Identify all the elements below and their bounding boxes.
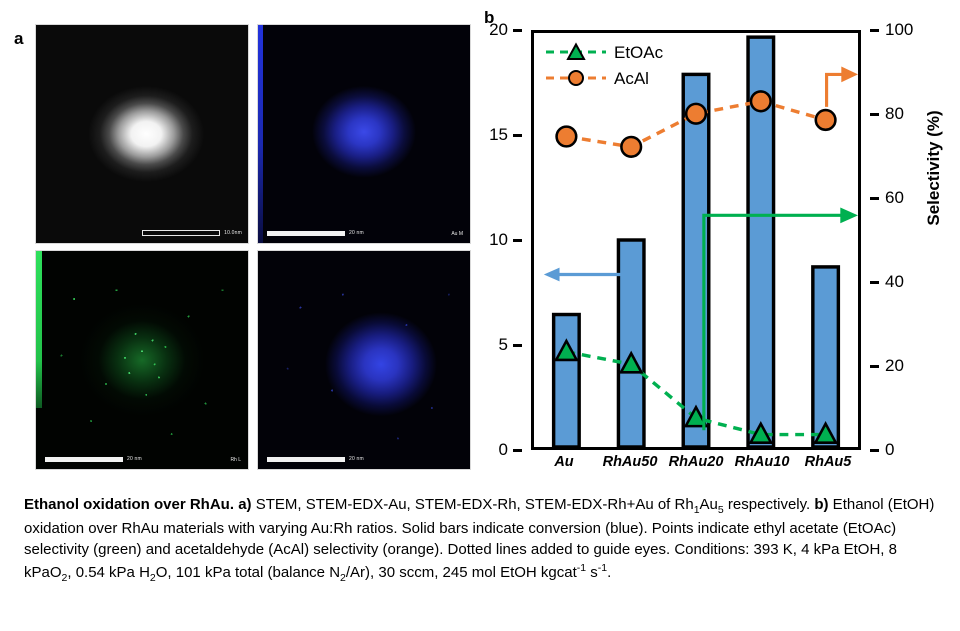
right-axis-arrow-green-head	[840, 207, 858, 223]
x-tick-label-RhAu5: RhAu5	[795, 454, 861, 470]
caption-a-tag: a)	[238, 496, 251, 513]
y-tick-right-20: 20	[870, 356, 904, 376]
panel-a-micrographs: a 10.0nm 20 nm Au M 20	[8, 8, 470, 478]
scalebar-bar	[267, 231, 345, 236]
caption-sup-s: -1	[598, 562, 607, 574]
caption-title: Ethanol oxidation over RhAu.	[24, 496, 234, 513]
scalebar-stem: 10.0nm	[142, 230, 242, 236]
y-tick-right-40: 40	[870, 272, 904, 292]
scalebar-label: 20 nm	[349, 456, 364, 462]
micrograph-edx-rh: 20 nm Rh L	[35, 250, 249, 470]
panel-b-chart: Conversion (%) Selectivity (%) 05101520 …	[478, 8, 952, 478]
x-axis-tick-labels: AuRhAu50RhAu20RhAu10RhAu5	[531, 454, 861, 470]
point-AcAl-RhAu5	[816, 110, 836, 130]
x-tick-label-RhAu50: RhAu50	[597, 454, 663, 470]
scalebar-bar	[267, 457, 345, 462]
point-AcAl-RhAu10	[751, 91, 771, 111]
legend-label-etoac: EtOAc	[614, 44, 663, 61]
micrograph-stem: 10.0nm	[35, 24, 249, 244]
bar-Au	[554, 315, 580, 447]
legend-label-acal: AcAl	[614, 70, 649, 87]
y-tick-left-0: 0	[499, 440, 522, 460]
caption-a-text2: Au	[700, 496, 718, 513]
edx-rh-intensity-stripe	[36, 251, 42, 408]
caption-b-text2: , 0.54 kPa H	[67, 564, 150, 581]
caption-b-text6: .	[607, 564, 611, 581]
caption-a-text3: respectively.	[724, 496, 815, 513]
legend-item-etoac: EtOAc	[544, 39, 663, 65]
edx-element-tag: Rh L	[230, 457, 241, 463]
scalebar-bar	[142, 230, 220, 236]
chart-legend: EtOAc AcAl	[544, 39, 663, 91]
bar-RhAu5	[813, 267, 839, 447]
left-axis-arrow-head	[544, 268, 560, 282]
y-axis-ticks-right: 020406080100	[870, 30, 918, 450]
x-tick-label-Au: Au	[531, 454, 597, 470]
scalebar-label: 20 nm	[127, 456, 142, 462]
caption-b-text5: s	[586, 564, 598, 581]
caption-b-text3: O, 101 kPa total (balance N	[156, 564, 340, 581]
y-tick-left-15: 15	[489, 125, 522, 145]
panel-a-label: a	[14, 30, 23, 47]
plot-area: EtOAc AcAl	[531, 30, 861, 450]
point-AcAl-Au	[557, 127, 577, 147]
right-axis-arrow-orange-head	[841, 67, 858, 83]
scalebar-label: 20 nm	[349, 230, 364, 236]
caption-b-tag: b)	[814, 496, 828, 513]
scalebar-bar	[45, 457, 123, 462]
chart-svg	[534, 33, 858, 447]
stem-image-content	[36, 25, 248, 243]
y-tick-left-20: 20	[489, 20, 522, 40]
legend-item-acal: AcAl	[544, 65, 663, 91]
y-tick-left-5: 5	[499, 335, 522, 355]
micrograph-edx-au: 20 nm Au M	[257, 24, 471, 244]
y-axis-ticks-left: 05101520	[478, 30, 522, 450]
y-tick-right-100: 100	[870, 20, 913, 40]
y-axis-label-right: Selectivity (%)	[924, 88, 944, 248]
point-AcAl-RhAu50	[621, 137, 641, 157]
figure-caption: Ethanol oxidation over RhAu. a) STEM, ST…	[24, 494, 938, 585]
scalebar-edx-rh: 20 nm	[45, 456, 142, 462]
y-tick-right-0: 0	[870, 440, 894, 460]
micrograph-edx-rh-au: 20 nm	[257, 250, 471, 470]
legend-swatch-circle	[544, 68, 608, 88]
figure-root: a 10.0nm 20 nm Au M 20	[0, 0, 960, 631]
scalebar-edx-au: 20 nm	[267, 230, 364, 236]
caption-a-text: STEM, STEM-EDX-Au, STEM-EDX-Rh, STEM-EDX…	[252, 496, 694, 513]
y-tick-right-60: 60	[870, 188, 904, 208]
scalebar-label: 10.0nm	[224, 230, 242, 236]
scalebar-edx-rhau: 20 nm	[267, 456, 364, 462]
x-tick-label-RhAu10: RhAu10	[729, 454, 795, 470]
y-tick-left-10: 10	[489, 230, 522, 250]
bar-RhAu50	[618, 240, 644, 447]
caption-b-text4: /Ar), 30 sccm, 245 mol EtOH kgcat	[346, 564, 577, 581]
edx-rh-speckle	[36, 251, 248, 469]
y-tick-right-80: 80	[870, 104, 904, 124]
edx-au-image-content	[258, 25, 470, 243]
caption-sup-kgcat: -1	[577, 562, 586, 574]
edx-rhau-speckle	[258, 251, 470, 469]
x-tick-label-RhAu20: RhAu20	[663, 454, 729, 470]
edx-au-intensity-stripe	[258, 25, 263, 243]
edx-element-tag: Au M	[451, 231, 463, 237]
point-AcAl-RhAu20	[686, 104, 706, 124]
legend-swatch-triangle	[544, 42, 608, 62]
